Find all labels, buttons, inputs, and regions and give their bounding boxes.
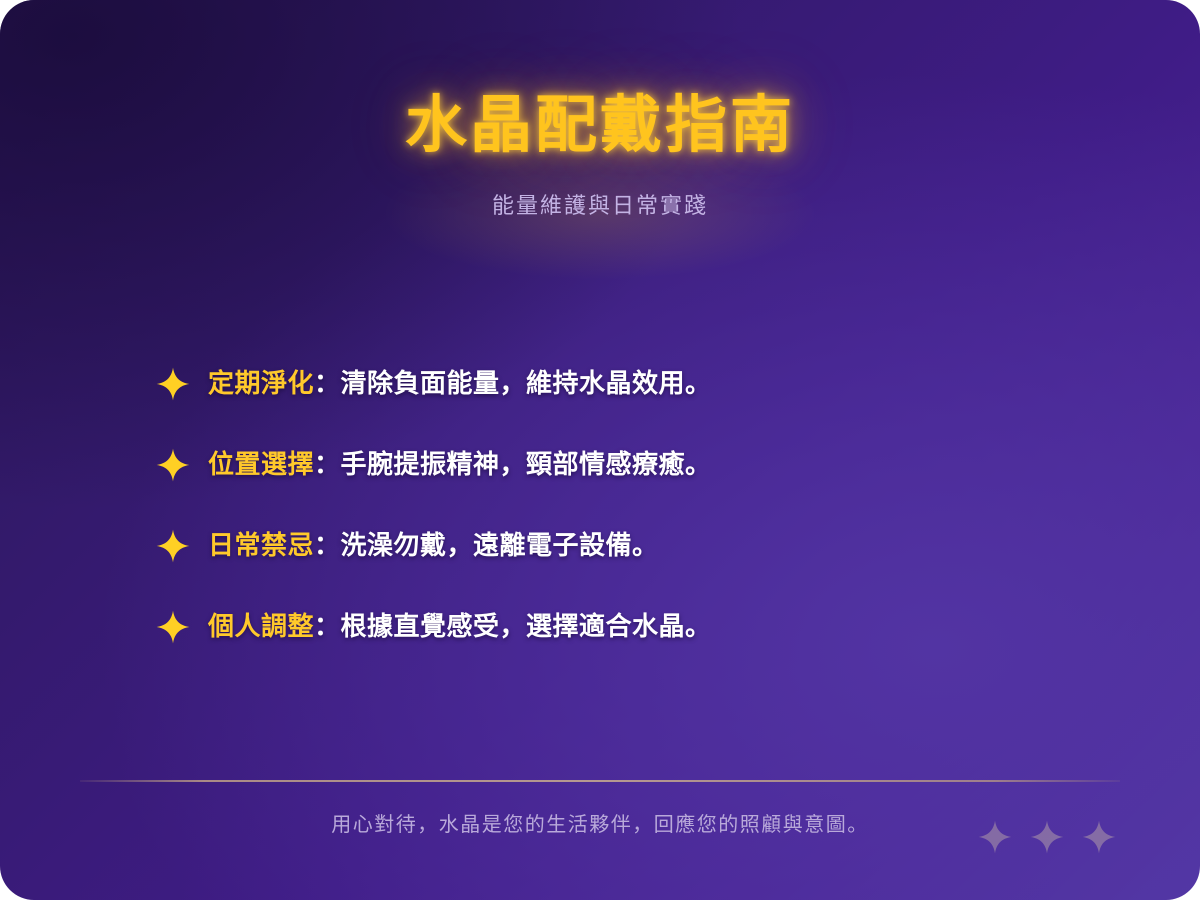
list-item-text: 日常禁忌：洗澡勿戴，遠離電子設備。 [208, 529, 659, 563]
list-item-text: 位置選擇：手腕提振精神，頸部情感療癒。 [208, 448, 712, 482]
list-item-label: 日常禁忌 [208, 530, 314, 560]
page-title: 水晶配戴指南 [0, 74, 1200, 164]
list-item-body: 根據直覺感受，選擇適合水晶。 [341, 611, 712, 641]
list-item-body: 洗澡勿戴，遠離電子設備。 [341, 530, 659, 560]
slide-canvas: 水晶配戴指南 能量維護與日常實踐 定期淨化：清除負面能量，維持水晶效用。 位置選… [0, 0, 1200, 900]
page-subtitle: 能量維護與日常實踐 [0, 164, 1200, 220]
sparkle-icon [156, 448, 190, 482]
list-item-separator: ： [314, 530, 341, 560]
list-item-label: 位置選擇 [208, 449, 314, 479]
list-item-text: 定期淨化：清除負面能量，維持水晶效用。 [208, 367, 712, 401]
sparkle-icon [156, 367, 190, 401]
list-item-body: 手腕提振精神，頸部情感療癒。 [341, 449, 712, 479]
sparkle-icon [1030, 820, 1064, 854]
list-item-label: 個人調整 [208, 611, 314, 641]
sparkle-icon [156, 610, 190, 644]
list-item-separator: ： [314, 611, 341, 641]
guide-list: 定期淨化：清除負面能量，維持水晶效用。 位置選擇：手腕提振精神，頸部情感療癒。 … [156, 356, 1090, 680]
slide-header: 水晶配戴指南 能量維護與日常實踐 [0, 0, 1200, 220]
list-item: 個人調整：根據直覺感受，選擇適合水晶。 [156, 599, 1090, 655]
list-item: 定期淨化：清除負面能量，維持水晶效用。 [156, 356, 1090, 412]
list-item-body: 清除負面能量，維持水晶效用。 [341, 368, 712, 398]
list-item: 位置選擇：手腕提振精神，頸部情感療癒。 [156, 437, 1090, 493]
sparkle-icon [1082, 820, 1116, 854]
footer-decor-sparkles [978, 820, 1116, 854]
list-item-separator: ： [314, 449, 341, 479]
list-item-text: 個人調整：根據直覺感受，選擇適合水晶。 [208, 610, 712, 644]
list-item-label: 定期淨化 [208, 368, 314, 398]
sparkle-icon [978, 820, 1012, 854]
list-item-separator: ： [314, 368, 341, 398]
list-item: 日常禁忌：洗澡勿戴，遠離電子設備。 [156, 518, 1090, 574]
footer-divider [80, 780, 1120, 782]
sparkle-icon [156, 529, 190, 563]
